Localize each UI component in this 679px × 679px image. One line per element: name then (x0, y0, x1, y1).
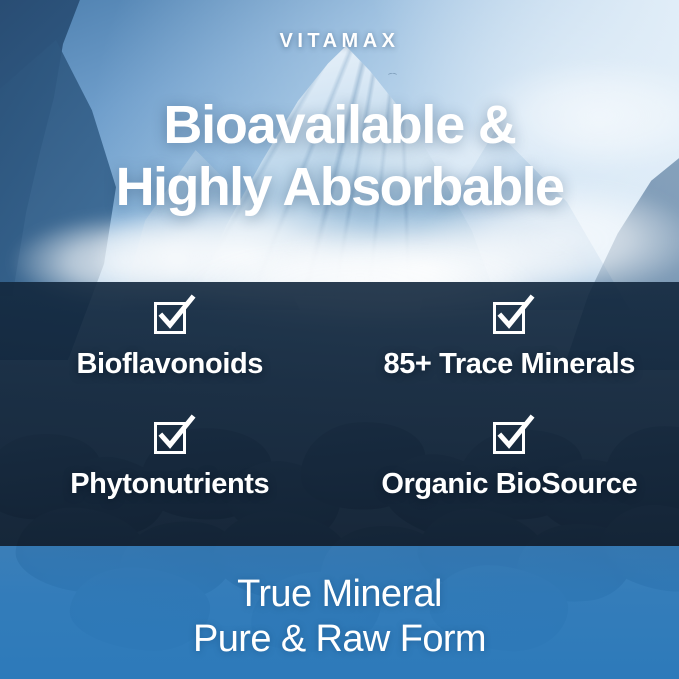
feature-list: Bioflavonoids 85+ Trace Minerals Phytonu (0, 282, 679, 546)
page-title: Bioavailable & Highly Absorbable (0, 94, 679, 218)
checkbox-checked-icon (493, 302, 525, 334)
feature-item-phytonutrients: Phytonutrients (0, 422, 340, 501)
footer-tagline: True Mineral Pure & Raw Form (0, 572, 679, 662)
feature-item-bioflavonoids: Bioflavonoids (0, 302, 340, 381)
feature-label: 85+ Trace Minerals (383, 348, 635, 381)
headline-line-2: Highly Absorbable (0, 156, 679, 218)
product-feature-poster: VITAMAX Bioavailable & Highly Absorbable… (0, 0, 679, 679)
checkbox-checked-icon (154, 422, 186, 454)
headline-line-1: Bioavailable & (0, 94, 679, 156)
bird-silhouette-icon (388, 72, 398, 76)
checkbox-checked-icon (154, 302, 186, 334)
feature-label: Bioflavonoids (76, 348, 263, 381)
feature-row-2: Phytonutrients Organic BioSource (0, 422, 679, 501)
feature-label: Phytonutrients (70, 468, 269, 501)
feature-item-organic-biosource: Organic BioSource (340, 422, 679, 501)
footer-line-2: Pure & Raw Form (0, 617, 679, 662)
checkbox-checked-icon (493, 422, 525, 454)
feature-item-trace-minerals: 85+ Trace Minerals (340, 302, 679, 381)
feature-label: Organic BioSource (381, 468, 637, 501)
feature-row-1: Bioflavonoids 85+ Trace Minerals (0, 302, 679, 381)
brand-name: VITAMAX (0, 30, 679, 53)
footer-line-1: True Mineral (0, 572, 679, 617)
